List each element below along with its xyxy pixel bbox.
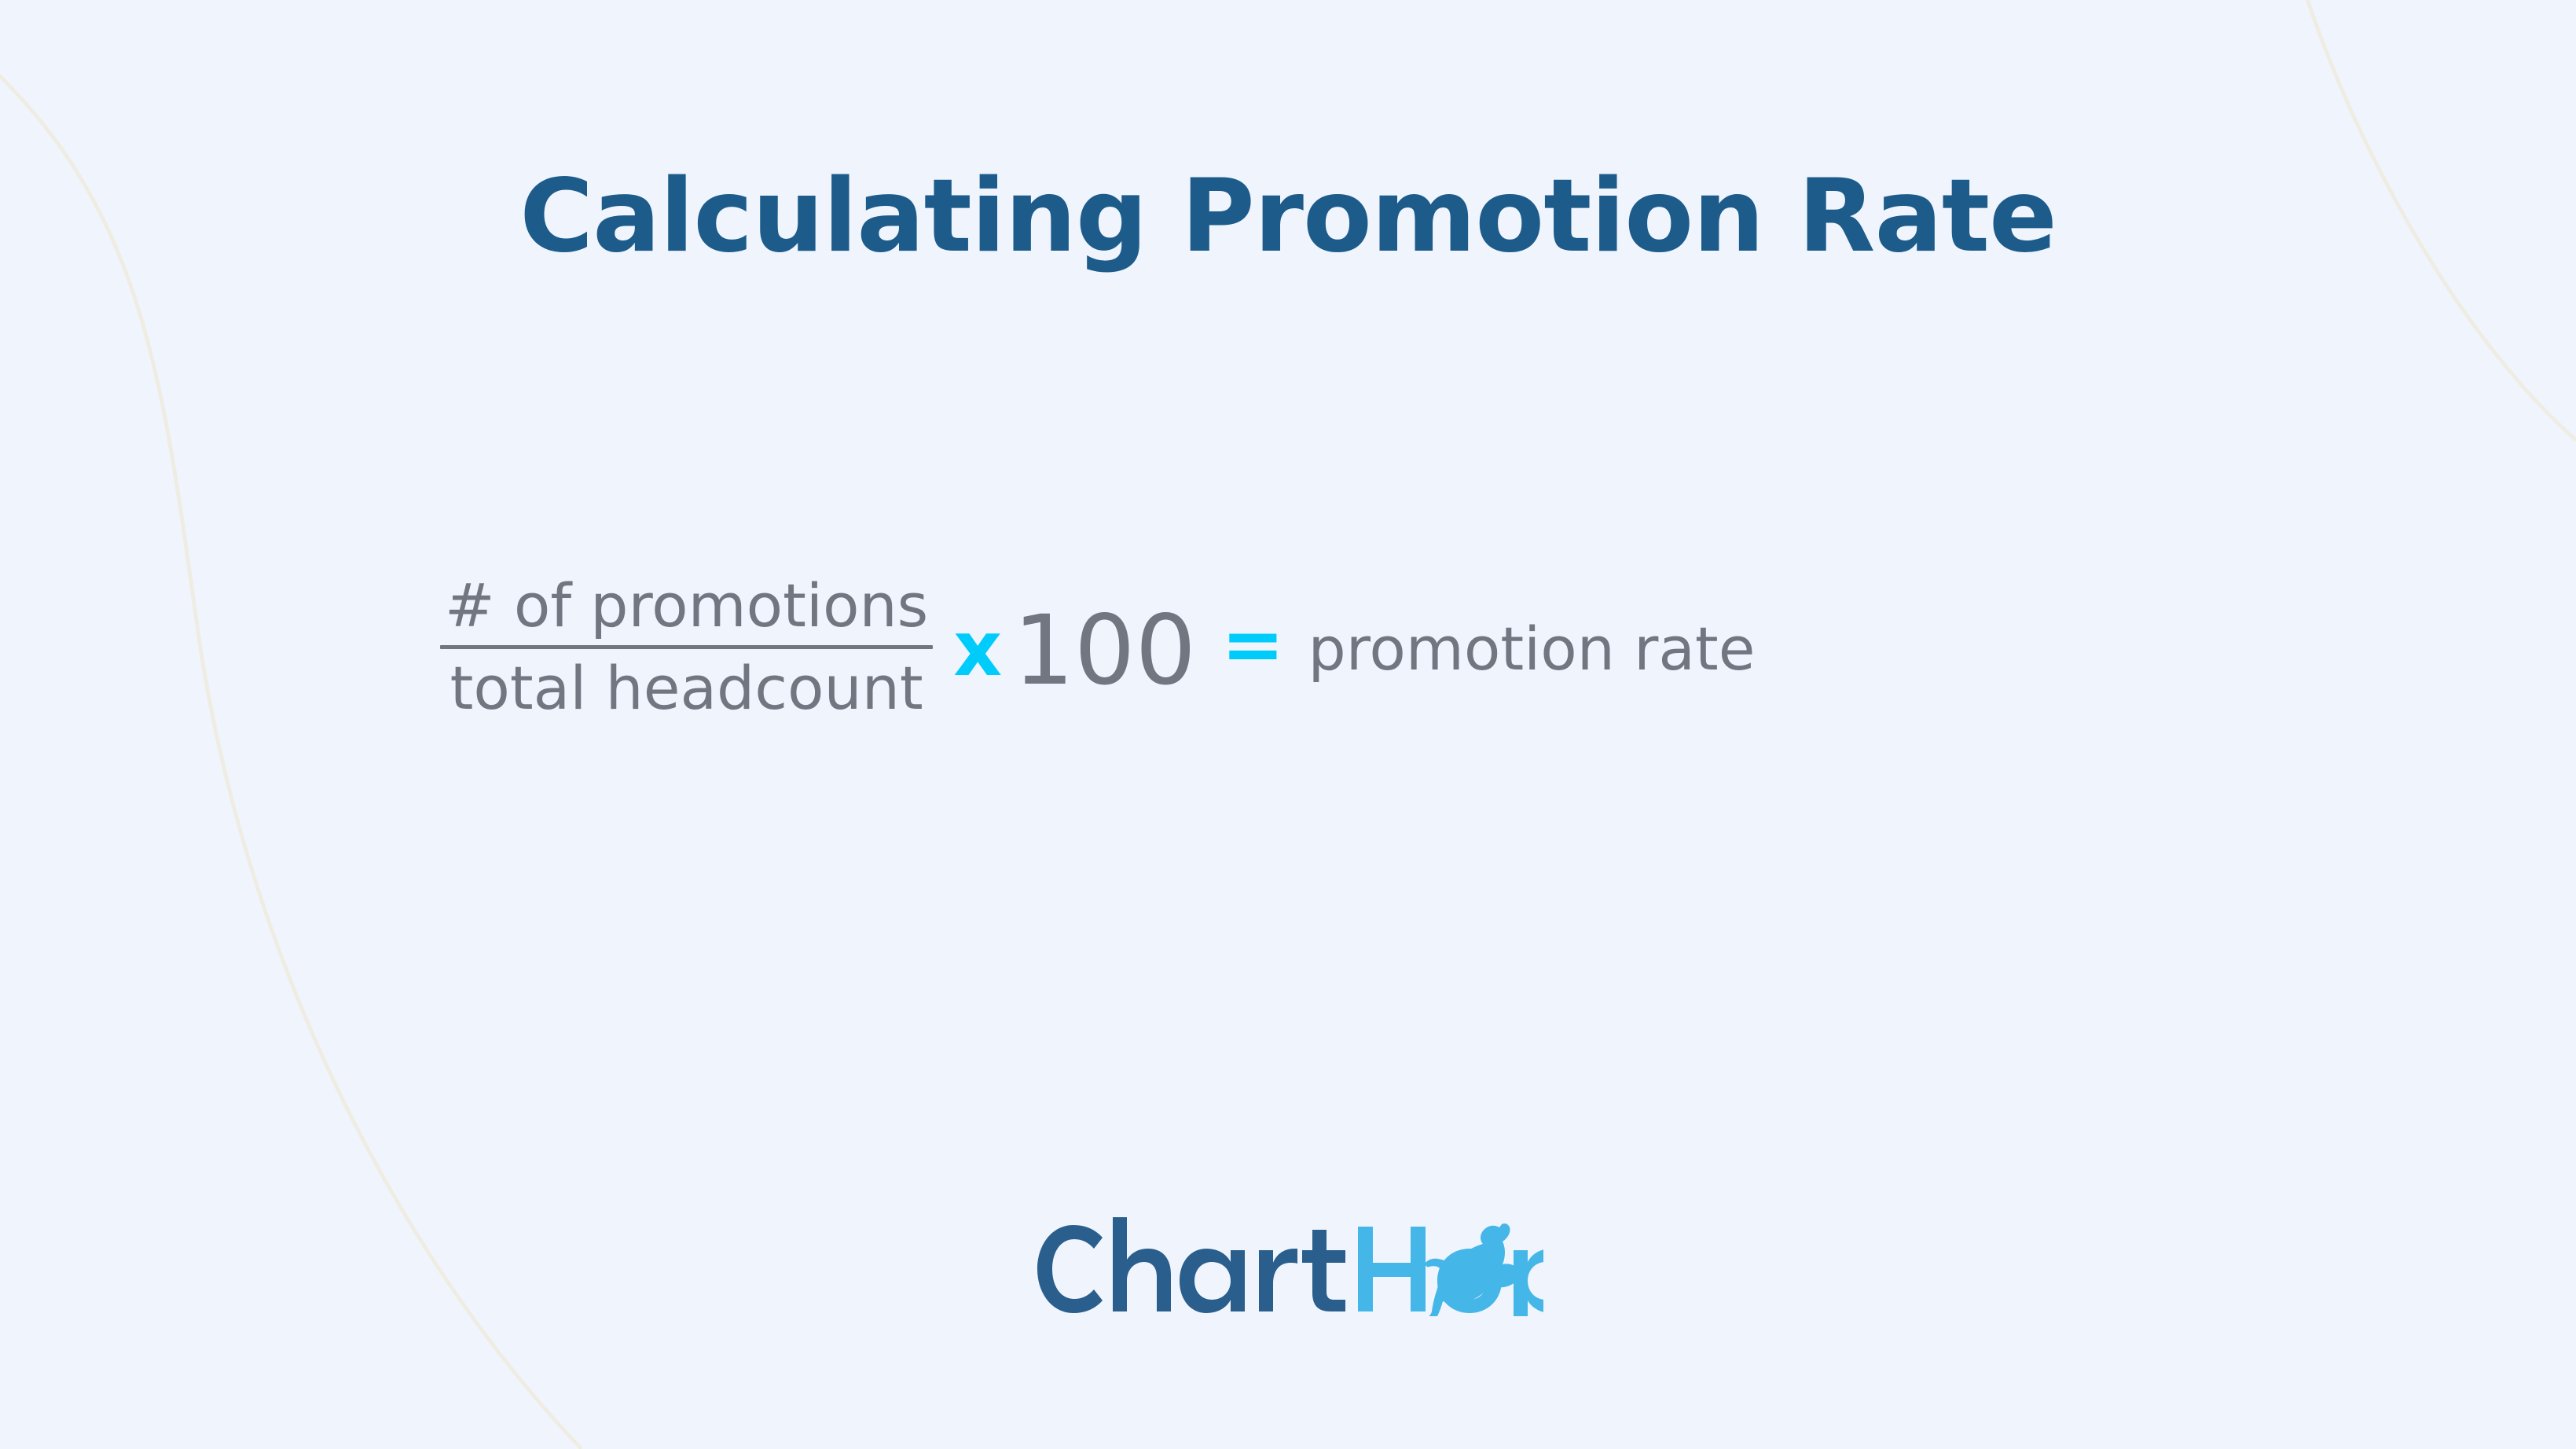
multiplication-operator-icon: x <box>953 611 1002 687</box>
multiplier-value: 100 <box>1013 603 1196 699</box>
fraction: # of promotions total headcount <box>440 574 933 721</box>
fraction-denominator: total headcount <box>446 656 928 721</box>
fraction-bar <box>440 645 933 649</box>
page-title: Calculating Promotion Rate <box>0 167 2576 267</box>
charthop-logo[interactable]: ChartHop <box>1033 1214 1543 1316</box>
promotion-rate-formula: # of promotions total headcount x 100 = … <box>440 574 1755 721</box>
slide-canvas: Calculating Promotion Rate # of promotio… <box>0 0 2576 1449</box>
logo-chart-wordmark <box>1037 1217 1345 1313</box>
formula-result-label: promotion rate <box>1308 619 1756 679</box>
fraction-numerator: # of promotions <box>440 574 933 638</box>
equals-operator-icon: = <box>1221 607 1284 682</box>
